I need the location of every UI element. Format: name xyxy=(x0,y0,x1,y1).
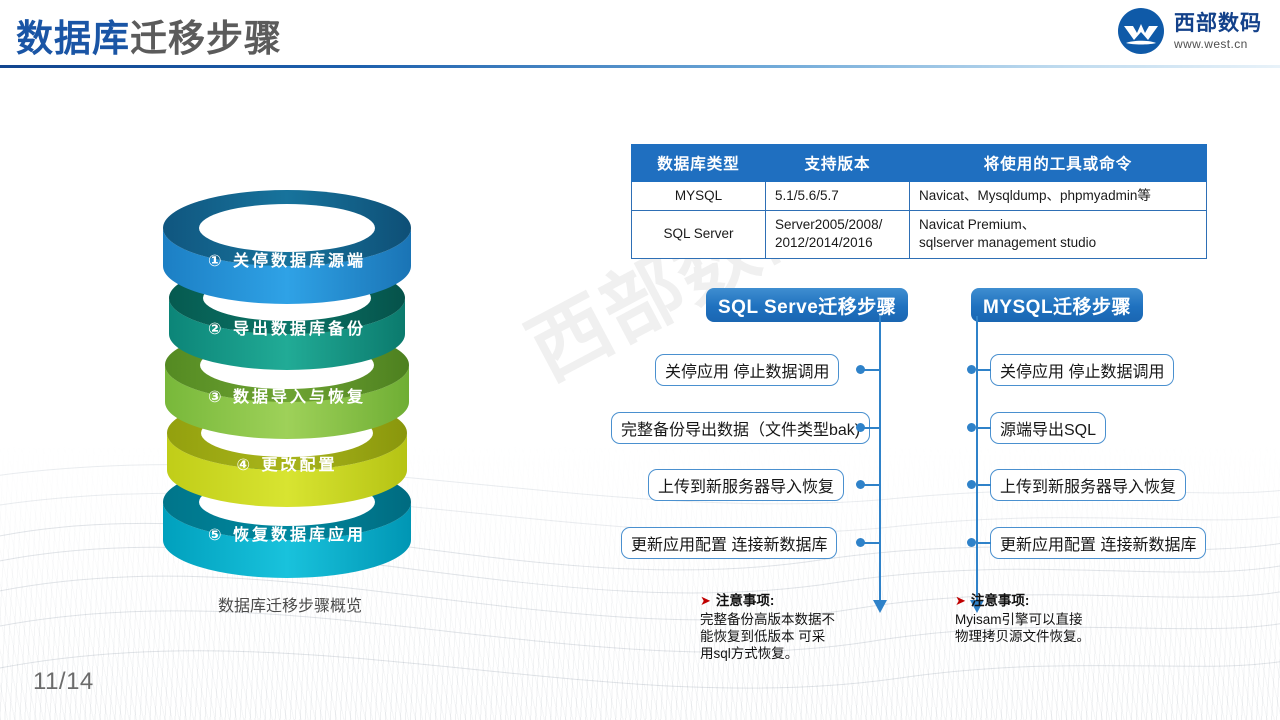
database-support-table: 数据库类型 支持版本 将使用的工具或命令 MYSQL 5.1/5.6/5.7 N… xyxy=(631,144,1207,259)
svg-text:② 导出数据库备份: ② 导出数据库备份 xyxy=(208,319,366,338)
step-box-mysql-3[interactable]: 上传到新服务器导入恢复 xyxy=(990,469,1186,501)
step-box-mysql-2[interactable]: 源端导出SQL xyxy=(990,412,1106,444)
note-mysql: ➤ 注意事项: Myisam引擎可以直接 物理拷贝源文件恢复。 xyxy=(955,592,1165,645)
ring-stack-diagram: ⑤ 恢复数据库应用 ④ 更改配置 ③ 数据导入与恢复 ② 导出数 xyxy=(155,150,420,580)
step-connector-mysql-4 xyxy=(977,542,991,544)
cell-versions: Server2005/2008/ 2012/2014/2016 xyxy=(766,211,910,258)
flow-spine-mysql xyxy=(976,316,978,604)
flow-title-sqlserver: SQL Serve迁移步骤 xyxy=(706,288,908,322)
svg-text:③ 数据导入与恢复: ③ 数据导入与恢复 xyxy=(208,387,366,406)
step-box-sqlserver-4[interactable]: 更新应用配置 连接新数据库 xyxy=(621,527,837,559)
ring-1: ① 关停数据库源端 xyxy=(163,190,411,304)
step-box-sqlserver-1[interactable]: 关停应用 停止数据调用 xyxy=(655,354,839,386)
step-dot-sqlserver-3 xyxy=(856,480,865,489)
step-dot-sqlserver-1 xyxy=(856,365,865,374)
step-dot-mysql-1 xyxy=(967,365,976,374)
cell-versions: 5.1/5.6/5.7 xyxy=(766,182,910,211)
step-connector-mysql-1 xyxy=(977,369,991,371)
slide-canvas: 西部数码 数据库迁移步骤 西部数码 www.west.cn xyxy=(0,0,1280,720)
cell-tools: Navicat、Mysqldump、phpmyadmin等 xyxy=(910,182,1207,211)
brand-logo: 西部数码 www.west.cn xyxy=(1117,7,1262,55)
page-title: 数据库迁移步骤 xyxy=(16,8,282,62)
step-dot-mysql-4 xyxy=(967,538,976,547)
note-heading-sqlserver: ➤ 注意事项: xyxy=(700,592,890,610)
step-box-mysql-1[interactable]: 关停应用 停止数据调用 xyxy=(990,354,1174,386)
cell-db-type: SQL Server xyxy=(632,211,766,258)
note-title-mysql: 注意事项: xyxy=(971,592,1030,609)
ring-stack-svg: ⑤ 恢复数据库应用 ④ 更改配置 ③ 数据导入与恢复 ② 导出数 xyxy=(155,150,420,580)
step-dot-mysql-3 xyxy=(967,480,976,489)
flow-title-mysql: MYSQL迁移步骤 xyxy=(971,288,1143,322)
svg-text:④ 更改配置: ④ 更改配置 xyxy=(236,455,337,474)
note-body-sqlserver: 完整备份高版本数据不 能恢复到低版本 可采 用sql方式恢复。 xyxy=(700,611,890,663)
page-number: 11/14 xyxy=(33,668,94,696)
step-dot-sqlserver-4 xyxy=(856,538,865,547)
note-title-sqlserver: 注意事项: xyxy=(716,592,775,609)
ring-stack-caption: 数据库迁移步骤概览 xyxy=(130,592,450,616)
step-box-sqlserver-2[interactable]: 完整备份导出数据（文件类型bak) xyxy=(611,412,870,444)
west-logo-icon xyxy=(1117,7,1165,55)
step-dot-sqlserver-2 xyxy=(856,423,865,432)
step-connector-mysql-3 xyxy=(977,484,991,486)
table-header-versions: 支持版本 xyxy=(766,145,910,182)
step-box-sqlserver-3[interactable]: 上传到新服务器导入恢复 xyxy=(648,469,844,501)
logo-company-name: 西部数码 xyxy=(1174,13,1262,34)
cell-db-type: MYSQL xyxy=(632,182,766,211)
svg-text:① 关停数据库源端: ① 关停数据库源端 xyxy=(208,251,366,270)
step-dot-mysql-2 xyxy=(967,423,976,432)
step-connector-mysql-2 xyxy=(977,427,991,429)
step-box-mysql-4[interactable]: 更新应用配置 连接新数据库 xyxy=(990,527,1206,559)
cell-tools: Navicat Premium、 sqlserver management st… xyxy=(910,211,1207,258)
note-heading-mysql: ➤ 注意事项: xyxy=(955,592,1165,610)
table-head: 数据库类型 支持版本 将使用的工具或命令 xyxy=(632,145,1207,182)
page-title-accent: 数据库 xyxy=(16,18,130,59)
note-bullet-icon: ➤ xyxy=(700,593,711,610)
table-row: MYSQL 5.1/5.6/5.7 Navicat、Mysqldump、phpm… xyxy=(632,182,1207,211)
svg-text:⑤ 恢复数据库应用: ⑤ 恢复数据库应用 xyxy=(208,525,366,544)
logo-website-url: www.west.cn xyxy=(1174,38,1262,50)
page-title-rest: 迁移步骤 xyxy=(130,18,282,59)
table-header-row: 数据库类型 支持版本 将使用的工具或命令 xyxy=(632,145,1207,182)
logo-text-block: 西部数码 www.west.cn xyxy=(1174,13,1262,50)
table-header-tools: 将使用的工具或命令 xyxy=(910,145,1207,182)
title-divider-rule xyxy=(0,65,1280,68)
table-row: SQL Server Server2005/2008/ 2012/2014/20… xyxy=(632,211,1207,258)
flow-spine-sqlserver xyxy=(879,316,881,604)
table-body: MYSQL 5.1/5.6/5.7 Navicat、Mysqldump、phpm… xyxy=(632,182,1207,259)
note-sqlserver: ➤ 注意事项: 完整备份高版本数据不 能恢复到低版本 可采 用sql方式恢复。 xyxy=(700,592,890,662)
note-bullet-icon: ➤ xyxy=(955,593,966,610)
table-header-db-type: 数据库类型 xyxy=(632,145,766,182)
note-body-mysql: Myisam引擎可以直接 物理拷贝源文件恢复。 xyxy=(955,611,1165,646)
